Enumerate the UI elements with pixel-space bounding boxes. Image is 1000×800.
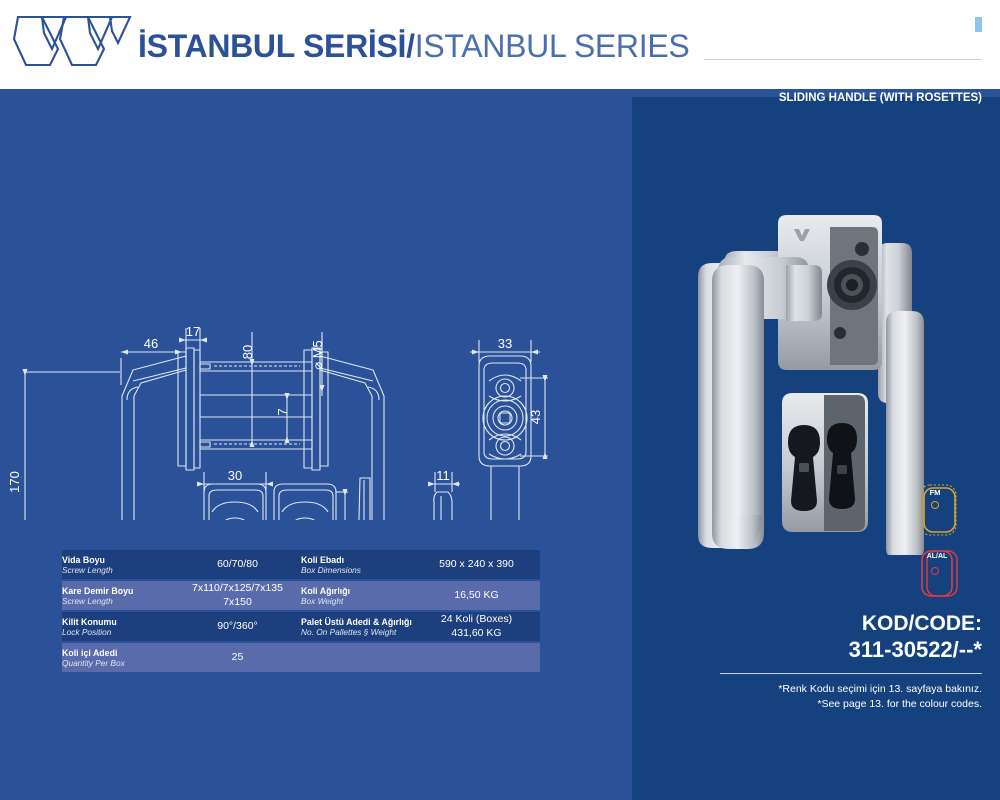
product-titles: JUMBO İSTANBUL FAM TAKIM SÜRME KOLU (ROZ… xyxy=(652,14,982,104)
colour-code-note-english: *See page 13. for the colour codes. xyxy=(682,697,982,712)
product-photo xyxy=(690,215,940,555)
dim-33-rosette-width: 33 xyxy=(498,336,512,351)
product-subtitle-english: SLIDING HANDLE (WITH ROSETTES) xyxy=(652,92,982,104)
product-title-turkish: JUMBO İSTANBUL FAM TAKIM xyxy=(652,14,982,35)
dim-170-handle-length: 170 xyxy=(7,471,22,493)
spec-label-en: Box Dimensions xyxy=(301,565,413,575)
spec-label-en: Quantity Per Box xyxy=(62,658,174,668)
wnp-chevron-logo xyxy=(12,9,132,81)
dim-80-screw-spacing: 80 xyxy=(240,345,255,359)
spec-label-square-bar-length: Kare Demir Boyu Screw Length xyxy=(62,581,174,610)
badge-al-al: AL/AL xyxy=(918,547,962,603)
title-accent-block xyxy=(975,17,982,32)
code-label: KOD/CODE: xyxy=(682,612,982,636)
colour-code-note-turkish: *Renk Kodu seçimi için 13. sayfaya bakın… xyxy=(682,682,982,697)
technical-dimension-drawing: 46 17 80 ⌀ M5 7 170 30 65 33 43 11 xyxy=(0,100,632,520)
spec-label-tr: Palet Üstü Adedi & Ağırlığı xyxy=(301,617,413,627)
dim-46-handle-projection: 46 xyxy=(144,336,158,351)
dim-m5-screw-thread: ⌀ M5 xyxy=(310,340,325,370)
spec-label-screw-length: Vida Boyu Screw Length xyxy=(62,550,174,579)
page-title-english: ISTANBUL SERIES xyxy=(415,28,690,64)
spec-value-quantity-per-box: 25 xyxy=(174,643,301,672)
spec-label-en: Box Weight xyxy=(301,596,413,606)
spec-label-en: No. On Pallettes § Weight xyxy=(301,627,413,637)
spec-label-en: Screw Length xyxy=(62,565,174,575)
spec-label-box-weight: Koli Ağırlığı Box Weight xyxy=(301,581,413,610)
product-title-english: JUMBO ISTANBUL SET xyxy=(652,74,982,91)
spec-label-en: Lock Position xyxy=(62,627,174,637)
dim-43-rosette-height: 43 xyxy=(528,410,543,424)
certification-badges: FM AL/AL xyxy=(918,483,978,611)
dim-30-escutcheon-width: 30 xyxy=(228,468,242,483)
spec-label-pallet-quantity-weight: Palet Üstü Adedi & Ağırlığı No. On Palle… xyxy=(301,612,413,641)
spec-label-en: Screw Length xyxy=(62,596,174,606)
badge-fm: FM xyxy=(918,483,962,539)
product-code-block: KOD/CODE: 311-30522/--* *Renk Kodu seçim… xyxy=(682,612,982,712)
table-row: Kare Demir Boyu Screw Length 7x110/7x125… xyxy=(62,581,540,610)
spec-value-empty xyxy=(413,643,540,672)
spec-label-tr: Kilit Konumu xyxy=(62,617,174,627)
colour-code-note: *Renk Kodu seçimi için 13. sayfaya bakın… xyxy=(682,682,982,712)
spec-value-box-weight: 16,50 KG xyxy=(413,581,540,610)
table-row: Vida Boyu Screw Length 60/70/80 Koli Eba… xyxy=(62,550,540,579)
spec-value-pallet-quantity-weight: 24 Koli (Boxes) 431,60 KG xyxy=(413,612,540,641)
badge-fm-label: FM xyxy=(918,488,952,497)
specification-table: Vida Boyu Screw Length 60/70/80 Koli Eba… xyxy=(62,548,540,674)
product-subtitle-turkish: SÜRME KOLU (ROZETLİ) xyxy=(652,36,982,52)
badge-al-al-dot xyxy=(931,567,939,575)
badge-al-al-label: AL/AL xyxy=(920,553,954,560)
spec-value-square-bar-length: 7x110/7x125/7x135 7x150 xyxy=(174,581,301,610)
spec-label-tr: Koli Ağırlığı xyxy=(301,586,413,596)
spec-label-tr: Koli Ebadı xyxy=(301,555,413,565)
spec-label-empty xyxy=(301,643,413,672)
dim-7-spindle: 7 xyxy=(275,408,290,415)
dim-17-rosette-thickness: 17 xyxy=(186,324,200,339)
spec-value-screw-length: 60/70/80 xyxy=(174,550,301,579)
page-title: İSTANBUL SERİSİ/ISTANBUL SERIES xyxy=(138,28,689,65)
page-title-turkish: İSTANBUL SERİSİ xyxy=(138,28,406,64)
spec-label-tr: Kare Demir Boyu xyxy=(62,586,174,596)
spec-value-box-dimensions: 590 x 240 x 390 xyxy=(413,550,540,579)
code-divider xyxy=(720,673,982,674)
page-title-separator: / xyxy=(406,28,415,64)
spec-value-lock-position: 90°/360° xyxy=(174,612,301,641)
dim-11-plate-thickness: 11 xyxy=(436,468,450,483)
spec-label-tr: Vida Boyu xyxy=(62,555,174,565)
badge-fm-dot xyxy=(931,501,939,509)
product-title-turkish-text: JUMBO İSTANBUL FAM TAKIM xyxy=(714,14,974,34)
spec-label-box-dimensions: Koli Ebadı Box Dimensions xyxy=(301,550,413,579)
code-value: 311-30522/--* xyxy=(682,637,982,663)
spec-label-quantity-per-box: Koli içi Adedi Quantity Per Box xyxy=(62,643,174,672)
spec-label-tr: Koli içi Adedi xyxy=(62,648,174,658)
title-divider xyxy=(704,59,982,60)
table-row: Koli içi Adedi Quantity Per Box 25 xyxy=(62,643,540,672)
spec-label-lock-position: Kilit Konumu Lock Position xyxy=(62,612,174,641)
table-row: Kilit Konumu Lock Position 90°/360° Pale… xyxy=(62,612,540,641)
